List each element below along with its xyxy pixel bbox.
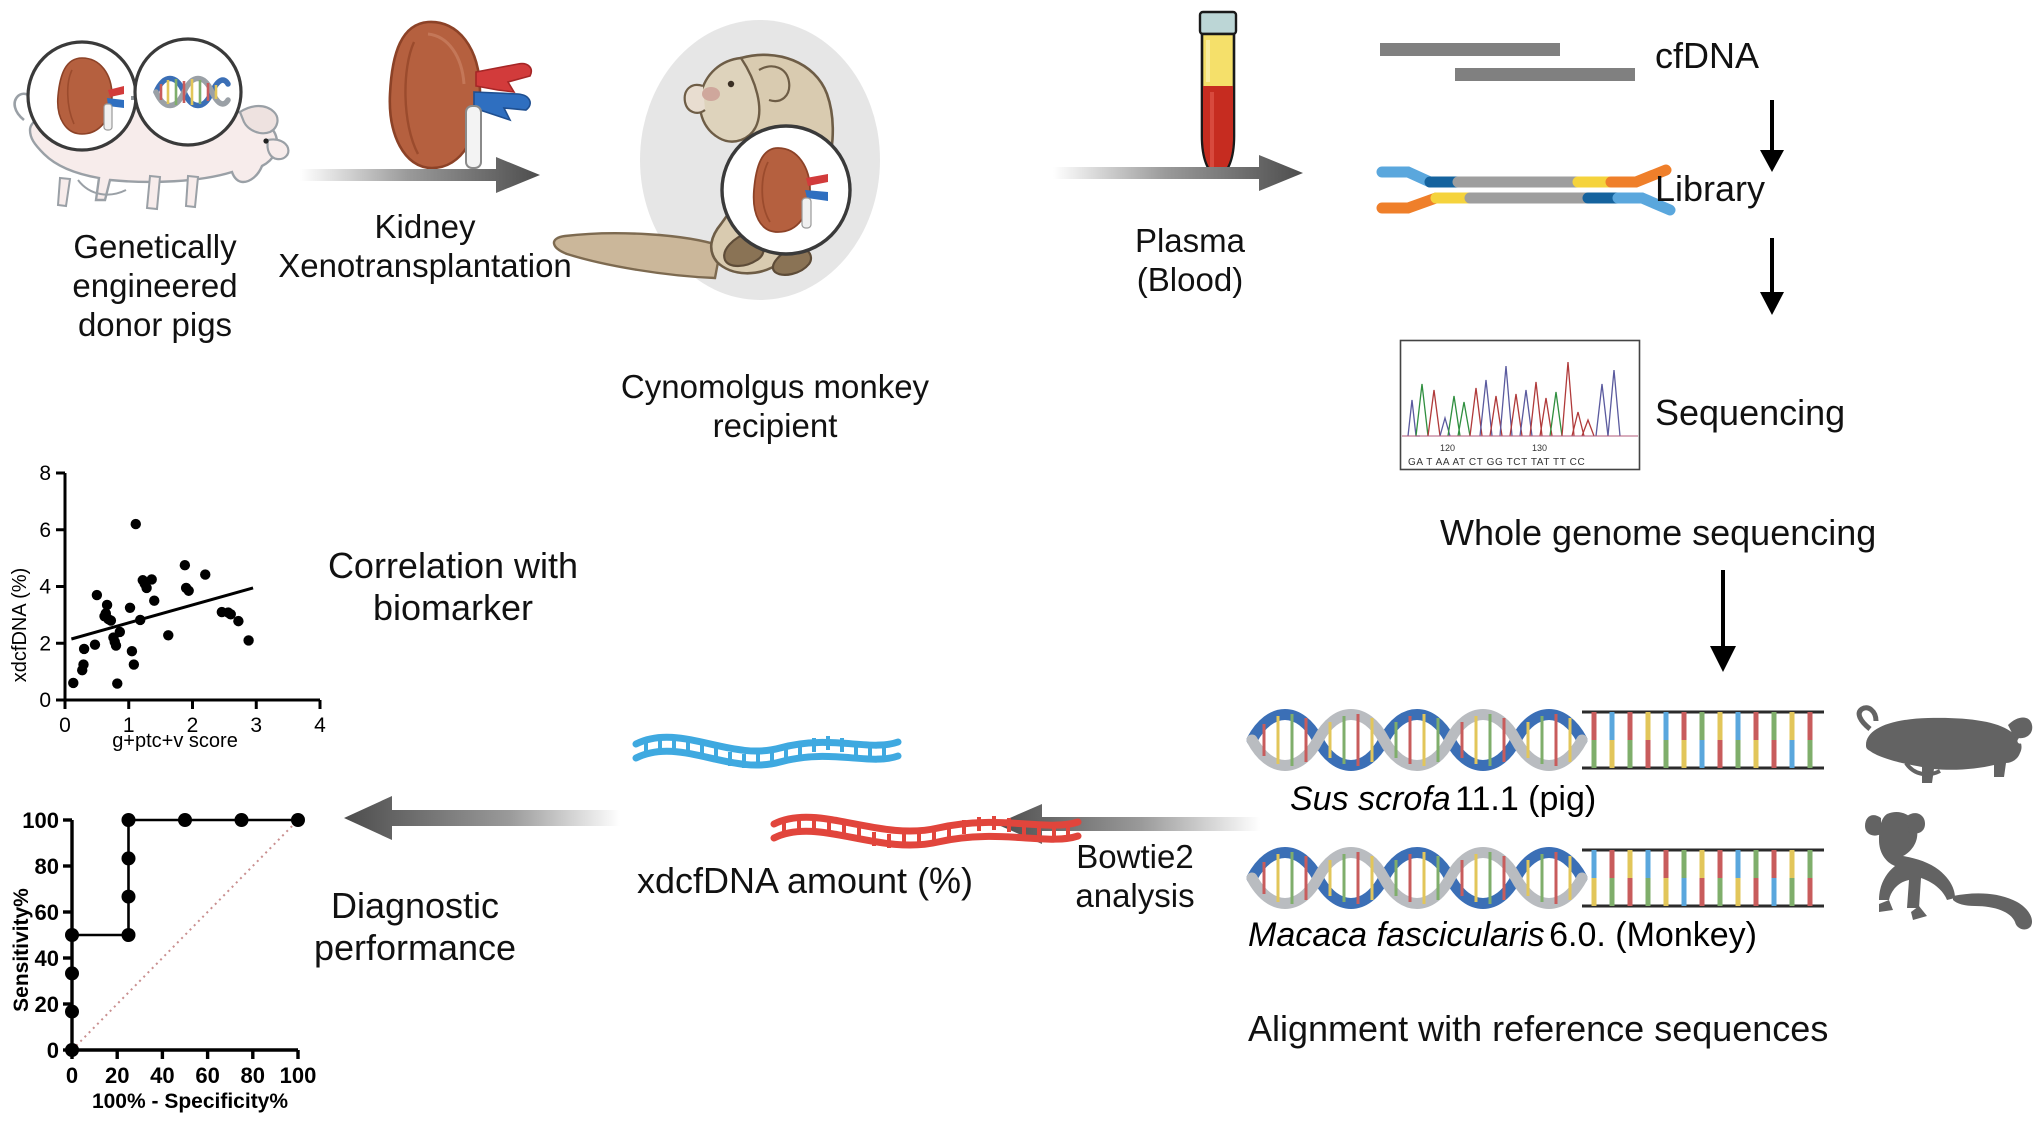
dna-inset-circle (135, 39, 241, 145)
correlation-caption: Correlation with biomarker (288, 545, 618, 630)
xdcfdna-amount-label: xdcfDNA amount (%) (595, 860, 1015, 902)
cfdna-label: cfDNA (1655, 35, 1915, 77)
scatter-ylabel: xdcfDNA (%) (9, 568, 31, 682)
svg-text:20: 20 (105, 1063, 129, 1088)
monkey-species-name: Macaca fascicularis (1248, 916, 1545, 954)
arrow-kidney-xenotransplantation (300, 150, 550, 200)
svg-text:3: 3 (250, 714, 262, 737)
sequencing-label: Sequencing (1655, 392, 1985, 434)
roc-ylabel: Sensitivity% (10, 888, 33, 1012)
xdcfdna-strand-blue (630, 718, 910, 778)
svg-text:60: 60 (35, 900, 59, 925)
alignment-label: Alignment with reference sequences (1248, 1008, 1888, 1050)
svg-text:100: 100 (280, 1063, 317, 1088)
pig-species-name: Sus scrofa (1290, 780, 1451, 818)
chromatogram-tick-120: 120 (1440, 443, 1455, 453)
monkey-kidney-inset (718, 122, 854, 258)
arrow2-label: Plasma (Blood) (1090, 222, 1290, 300)
donor-pig-illustration (0, 0, 300, 230)
monkey-silhouette-icon (1845, 800, 2037, 930)
diagnostic-caption: Diagnostic performance (255, 885, 575, 970)
monkey-genome-version: 6.0. (Monkey) (1549, 916, 1757, 954)
monkey-reference-label: Macaca fascicularis 6.0. (Monkey) (1248, 916, 1757, 955)
svg-text:40: 40 (35, 946, 59, 971)
sequencing-library-construct (1378, 160, 1678, 235)
arrow-to-diagnostic-performance (330, 790, 620, 846)
svg-text:0: 0 (39, 689, 51, 712)
recipient-caption: Cynomolgus monkey recipient (575, 368, 975, 446)
scatter-xlabel: g+ptc+v score (112, 730, 238, 752)
svg-text:4: 4 (314, 714, 326, 737)
arrow1-label: Kidney Xenotransplantation (270, 208, 580, 286)
arrow-cfdna-to-library (1752, 100, 1792, 175)
kidney-inset-circle (28, 42, 136, 150)
scatter-plot-correlation: 0246801234 xdcfDNA (%) g+ptc+v score (10, 455, 330, 755)
svg-text:2: 2 (39, 632, 51, 655)
sanger-chromatogram: 120 130 GA T AA AT CT GG TCT TAT TT CC (1400, 340, 1640, 470)
pig-silhouette-icon (1848, 695, 2033, 795)
svg-text:0: 0 (66, 1063, 78, 1088)
svg-text:0: 0 (59, 714, 71, 737)
svg-text:4: 4 (39, 576, 51, 599)
roc-xlabel: 100% - Specificity% (92, 1090, 288, 1113)
chromatogram-bases: GA T AA AT CT GG TCT TAT TT CC (1408, 457, 1585, 468)
svg-text:8: 8 (39, 462, 51, 485)
svg-text:100: 100 (22, 808, 59, 833)
svg-text:80: 80 (35, 854, 59, 879)
cfdna-fragments (1380, 38, 1680, 98)
figure-canvas: Genetically engineered donor pigs Kidney… (0, 0, 2037, 1126)
svg-text:40: 40 (150, 1063, 174, 1088)
svg-text:80: 80 (241, 1063, 265, 1088)
pig-reference-label: Sus scrofa 11.1 (pig) (1290, 780, 1596, 819)
donor-pig-caption: Genetically engineered donor pigs (30, 228, 280, 345)
arrow-library-to-sequencing (1752, 238, 1792, 318)
chromatogram-tick-130: 130 (1532, 443, 1547, 453)
svg-text:0: 0 (47, 1038, 59, 1063)
monkey-reference-genome-graphic (1248, 838, 1828, 918)
pig-reference-genome-graphic (1248, 700, 1828, 780)
arrow-wgs-to-alignment (1700, 570, 1746, 675)
wgs-label: Whole genome sequencing (1440, 512, 2000, 554)
svg-text:20: 20 (35, 992, 59, 1017)
xdcfdna-strand-red (768, 798, 1088, 858)
svg-text:60: 60 (195, 1063, 219, 1088)
library-label: Library (1655, 168, 1915, 210)
pig-genome-version: 11.1 (pig) (1455, 780, 1596, 818)
svg-text:6: 6 (39, 519, 51, 542)
arrow-plasma-blood (1053, 148, 1313, 198)
